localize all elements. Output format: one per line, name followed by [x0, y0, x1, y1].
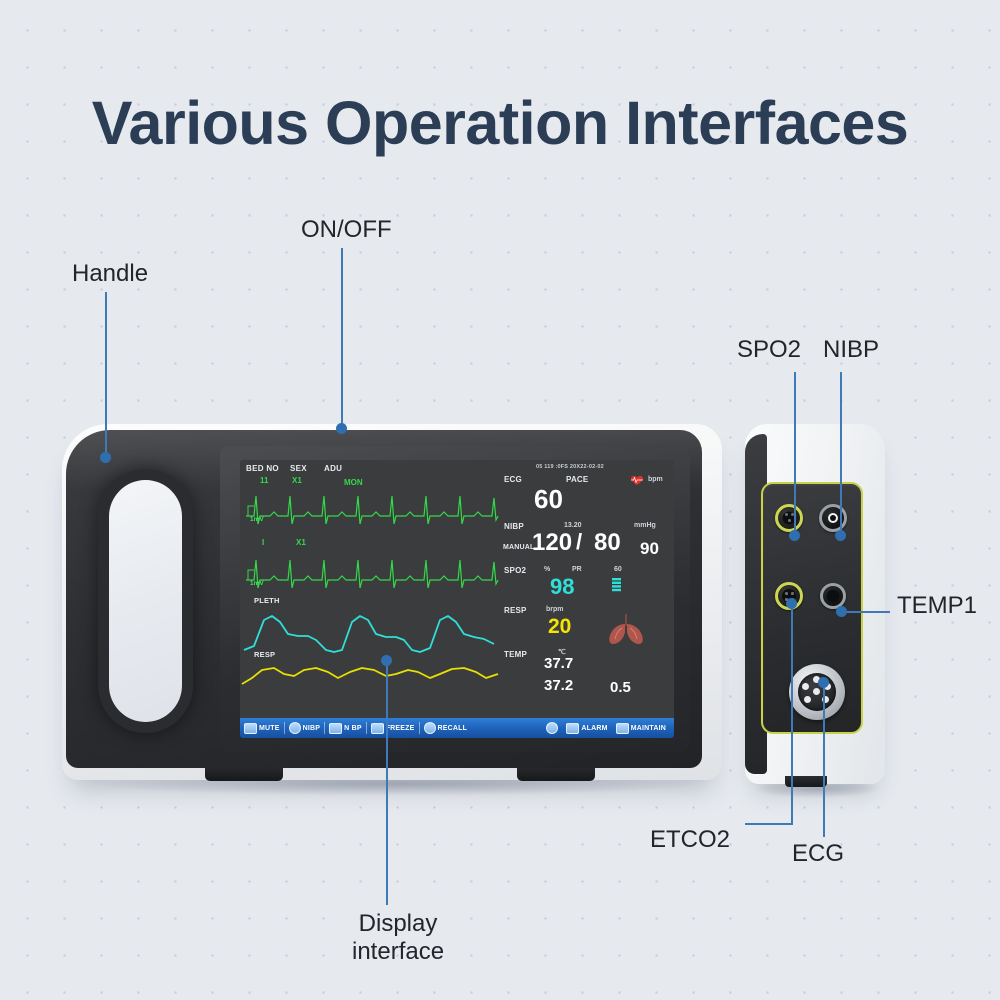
- ecg2-gain-value: X1: [296, 538, 306, 547]
- temp2-value: 37.2: [544, 678, 573, 693]
- callout-dot-nibp: [835, 530, 846, 541]
- spo2-numeric-label: SPO2: [504, 566, 526, 575]
- callout-label-handle: Handle: [72, 260, 148, 288]
- toolbar-label-alarm: ALARM: [581, 725, 607, 732]
- ecg-port[interactable]: [789, 664, 845, 720]
- temp-numeric-label: TEMP: [504, 650, 527, 659]
- callout-label-display: Display interface: [352, 910, 444, 966]
- callout-label-nibp: NIBP: [823, 336, 879, 364]
- ecg2-lead-label: I: [262, 538, 264, 547]
- nibp-mode: MANUAL: [503, 544, 535, 551]
- leader-line-onoff: [341, 248, 343, 428]
- leader-line-spo2: [794, 372, 796, 535]
- ecg2-gain-label: 1mV: [250, 580, 264, 587]
- temp-delta-value: 0.5: [610, 680, 631, 695]
- spo2-value: 98: [550, 576, 574, 598]
- nibp-systolic: 120: [532, 531, 572, 555]
- callout-dot-ecg: [818, 677, 829, 688]
- toolbar-button-nbp[interactable]: N BP: [325, 720, 366, 736]
- freeze-icon: [371, 723, 384, 734]
- leader-line-etco2-h: [745, 823, 793, 825]
- pr-value: 60: [614, 566, 622, 573]
- leader-line-nibp: [840, 372, 842, 535]
- leader-line-temp1: [845, 611, 890, 613]
- callout-dot-onoff: [336, 423, 347, 434]
- lungs-icon: [606, 612, 646, 646]
- callout-label-spo2: SPO2: [737, 336, 801, 364]
- pr-label: PR: [572, 566, 582, 573]
- toolbar-label-recall: RECALL: [438, 725, 468, 732]
- pleth-waveform: [240, 606, 500, 662]
- device-foot-right: [517, 768, 595, 781]
- carry-handle[interactable]: [109, 480, 182, 722]
- callout-dot-display: [381, 655, 392, 666]
- callout-label-temp1: TEMP1: [897, 592, 977, 620]
- connector-panel: [761, 482, 863, 734]
- callout-label-display-line2: interface: [352, 938, 444, 966]
- resp-rate-value: 20: [548, 616, 571, 637]
- ecg-waveform-2: [240, 550, 500, 594]
- bed-no-value: 11: [260, 476, 268, 485]
- leader-line-display: [386, 660, 388, 905]
- callout-label-display-line1: Display: [352, 910, 444, 938]
- nibp-diastolic: 80: [594, 531, 621, 555]
- screen-toolbar: MUTE NIBP N BP FREEZE RECALL: [240, 718, 674, 738]
- alarm-icon: [566, 723, 579, 734]
- display-interface[interactable]: BED NO SEX ADU 11 X1 MON 1mV I X1 1mV PL…: [240, 460, 674, 738]
- ecg-port-inner: [798, 673, 836, 711]
- toolbar-button-mute[interactable]: MUTE: [240, 720, 284, 736]
- bed-no-label: BED NO: [246, 464, 279, 473]
- spo2-bar-icon: [612, 578, 622, 594]
- spo2-unit: %: [544, 566, 550, 573]
- ecg-numeric-label: ECG: [504, 475, 522, 484]
- back-arrow-icon: [546, 722, 558, 734]
- heart-rate-value: 60: [534, 486, 563, 512]
- patient-monitor-side-view: [745, 424, 885, 784]
- temp1-port-inner: [827, 590, 840, 603]
- resp-unit: brpm: [546, 606, 564, 613]
- toolbar-button-recall[interactable]: RECALL: [420, 720, 472, 736]
- device-foot-left: [205, 768, 283, 781]
- pleth-label: PLETH: [254, 596, 280, 605]
- toolbar-button-maintain[interactable]: MAINTAIN: [612, 720, 670, 736]
- sex-label: SEX: [290, 464, 307, 473]
- callout-label-etco2: ETCO2: [650, 826, 730, 854]
- waveform-area: BED NO SEX ADU 11 X1 MON 1mV I X1 1mV PL…: [240, 460, 500, 710]
- callout-dot-spo2: [789, 530, 800, 541]
- leader-line-handle: [105, 292, 107, 457]
- callout-label-ecg: ECG: [792, 840, 844, 868]
- nibp-unit: mmHg: [634, 522, 656, 529]
- pace-label: PACE: [566, 475, 588, 484]
- toolbar-button-back[interactable]: [542, 720, 562, 736]
- ecg-unit: bpm: [648, 476, 663, 483]
- toolbar-button-nibp[interactable]: NIBP: [285, 720, 325, 736]
- callout-label-onoff: ON/OFF: [301, 216, 392, 244]
- callout-dot-handle: [100, 452, 111, 463]
- resp-waveform: [240, 658, 500, 702]
- leader-line-etco2-v: [791, 604, 793, 824]
- callout-dot-etco2: [786, 598, 797, 609]
- screen-timestamp: 05 119 :0FS 20X22-02-02: [536, 464, 604, 470]
- toolbar-label-maintain: MAINTAIN: [631, 725, 666, 732]
- resp-numeric-label: RESP: [504, 606, 527, 615]
- nibp-numeric-label: NIBP: [504, 522, 524, 531]
- toolbar-button-freeze[interactable]: FREEZE: [367, 720, 419, 736]
- toolbar-label-mute: MUTE: [259, 725, 280, 732]
- callout-dot-temp1: [836, 606, 847, 617]
- nbp-icon: [329, 723, 342, 734]
- nibp-separator: /: [576, 531, 582, 553]
- temp1-value: 37.7: [544, 656, 573, 671]
- nibp-icon: [289, 722, 301, 734]
- nibp-mean: 90: [640, 540, 659, 557]
- patient-type-label: ADU: [324, 464, 342, 473]
- nibp-time: 13.20: [564, 522, 582, 529]
- sex-value: X1: [292, 476, 302, 485]
- numeric-area: 05 119 :0FS 20X22-02-02 ECG PACE bpm 60 …: [502, 460, 674, 710]
- nibp-port[interactable]: [819, 504, 847, 532]
- patient-monitor-front-view: BED NO SEX ADU 11 X1 MON 1mV I X1 1mV PL…: [62, 424, 722, 780]
- ecg-waveform-1: [240, 486, 500, 530]
- recall-icon: [424, 722, 436, 734]
- page-title: Various Operation Interfaces: [0, 88, 1000, 158]
- toolbar-label-freeze: FREEZE: [386, 725, 415, 732]
- heart-icon: [630, 475, 644, 485]
- toolbar-button-alarm[interactable]: ALARM: [562, 720, 611, 736]
- maintain-icon: [616, 723, 629, 734]
- toolbar-label-nibp: NIBP: [303, 725, 321, 732]
- spo2-port[interactable]: [775, 504, 803, 532]
- ecg1-gain-label: 1mV: [250, 516, 264, 523]
- leader-line-ecg: [823, 682, 825, 837]
- toolbar-label-nbp: N BP: [344, 725, 362, 732]
- mute-icon: [244, 723, 257, 734]
